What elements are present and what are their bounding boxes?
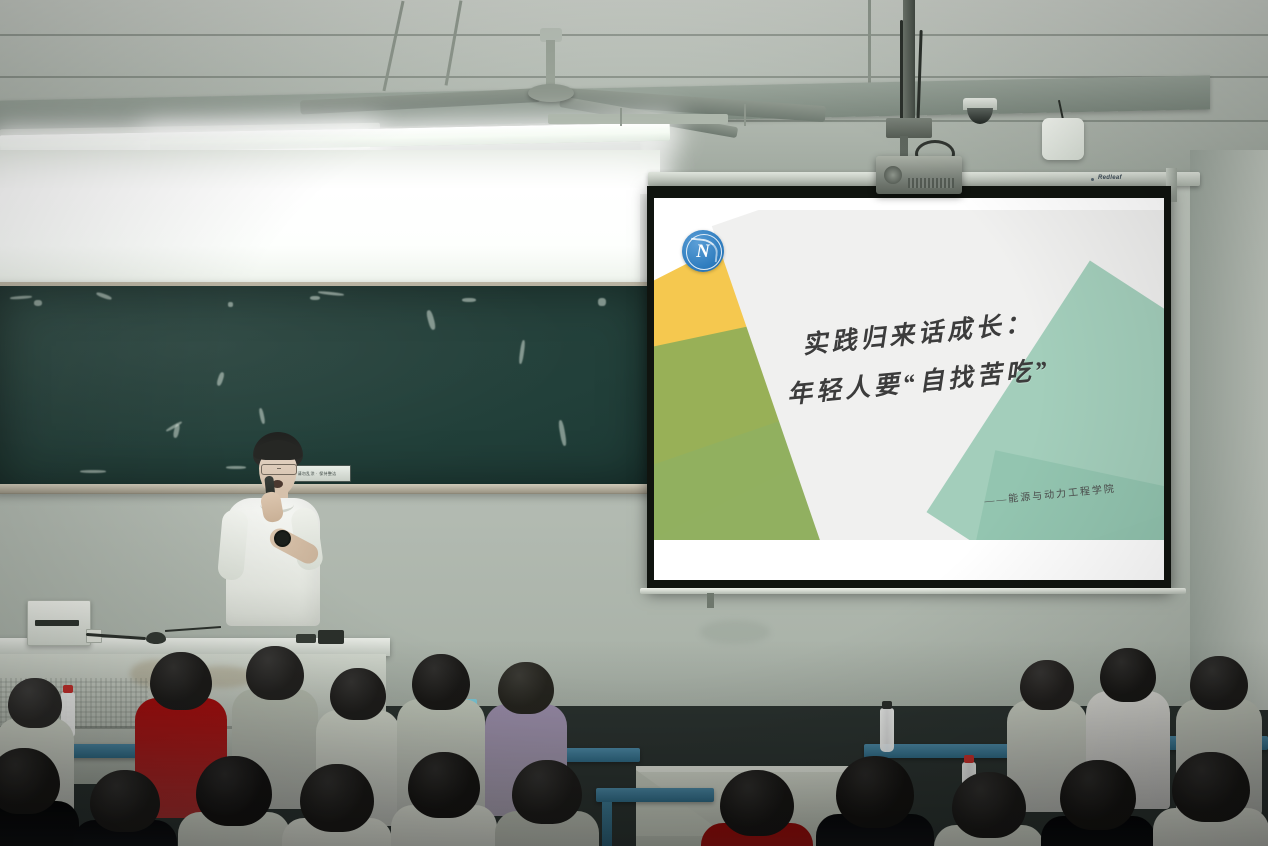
bottle-cap (63, 685, 73, 693)
projector-mount-pipe (903, 0, 915, 118)
bottle-cap (964, 755, 974, 763)
audience-head (330, 668, 386, 720)
audience-head (1020, 660, 1074, 710)
audience-head (196, 756, 272, 826)
chalk-mark (310, 296, 320, 300)
projector-cable (900, 20, 903, 130)
audience-head (512, 760, 582, 824)
slide-canvas: N 实践归来话成长： 年轻人要“自找苦吃” ——能源与动力工程学院 (654, 210, 1164, 556)
audience-head (1060, 760, 1136, 830)
wristwatch-icon (274, 530, 291, 547)
audience-head (408, 752, 480, 818)
bottle-cap (882, 701, 892, 709)
housing-indicator (1091, 178, 1094, 181)
chalk-mark (34, 300, 42, 306)
wall-scuff (700, 620, 770, 644)
chalk-mark (228, 302, 233, 307)
audience-head (246, 646, 304, 700)
screen-weight-bar (640, 588, 1186, 594)
audience-head (1100, 648, 1156, 702)
ceiling-seam (0, 34, 1268, 36)
glasses-icon (261, 464, 297, 475)
light-hanger (620, 108, 622, 126)
audience-head (8, 678, 62, 728)
projector-lens (884, 166, 902, 184)
projector-mount-plate (886, 118, 932, 138)
audience-head (300, 764, 374, 832)
laptop-hinge (35, 620, 79, 626)
presenter (216, 432, 326, 652)
screen-hook (707, 593, 714, 608)
wall-light-glow (0, 188, 640, 284)
desk-leg (602, 802, 612, 846)
student-desk (596, 788, 714, 802)
lecture-hall-photo: 请勿乱涂 · 保持整洁 Redleaf N 实践归来话成长： 年轻人要“自找苦吃… (0, 0, 1268, 846)
computer-mouse (146, 632, 166, 644)
chalk-tray (0, 484, 652, 493)
audience-head (1190, 656, 1248, 710)
water-bottle (880, 708, 894, 752)
slide-bottom-band (654, 540, 1164, 556)
presentation-slide: N 实践归来话成长： 年轻人要“自找苦吃” ——能源与动力工程学院 (654, 198, 1164, 580)
logo-letter: N (696, 242, 710, 261)
audience-head (412, 654, 470, 710)
chalk-mark (80, 470, 106, 473)
projector-vent (908, 178, 954, 188)
audience-head (720, 770, 794, 836)
chalk-mark (462, 298, 476, 302)
fan-pole (546, 40, 555, 88)
audience-head (952, 772, 1026, 838)
light-fixture-frame (548, 114, 728, 124)
audience-head (1172, 752, 1250, 822)
audience-head (150, 652, 212, 710)
audience-head (90, 770, 160, 832)
light-hanger (744, 104, 746, 126)
university-logo: N (682, 230, 724, 272)
side-wall (1190, 150, 1268, 710)
audience-head (836, 756, 914, 828)
chalk-mark (598, 298, 606, 306)
audience-head (498, 662, 554, 714)
screen-brand-label: Redleaf (1098, 175, 1122, 181)
wall-access-point (1042, 118, 1084, 160)
ceiling-fan (528, 84, 574, 102)
